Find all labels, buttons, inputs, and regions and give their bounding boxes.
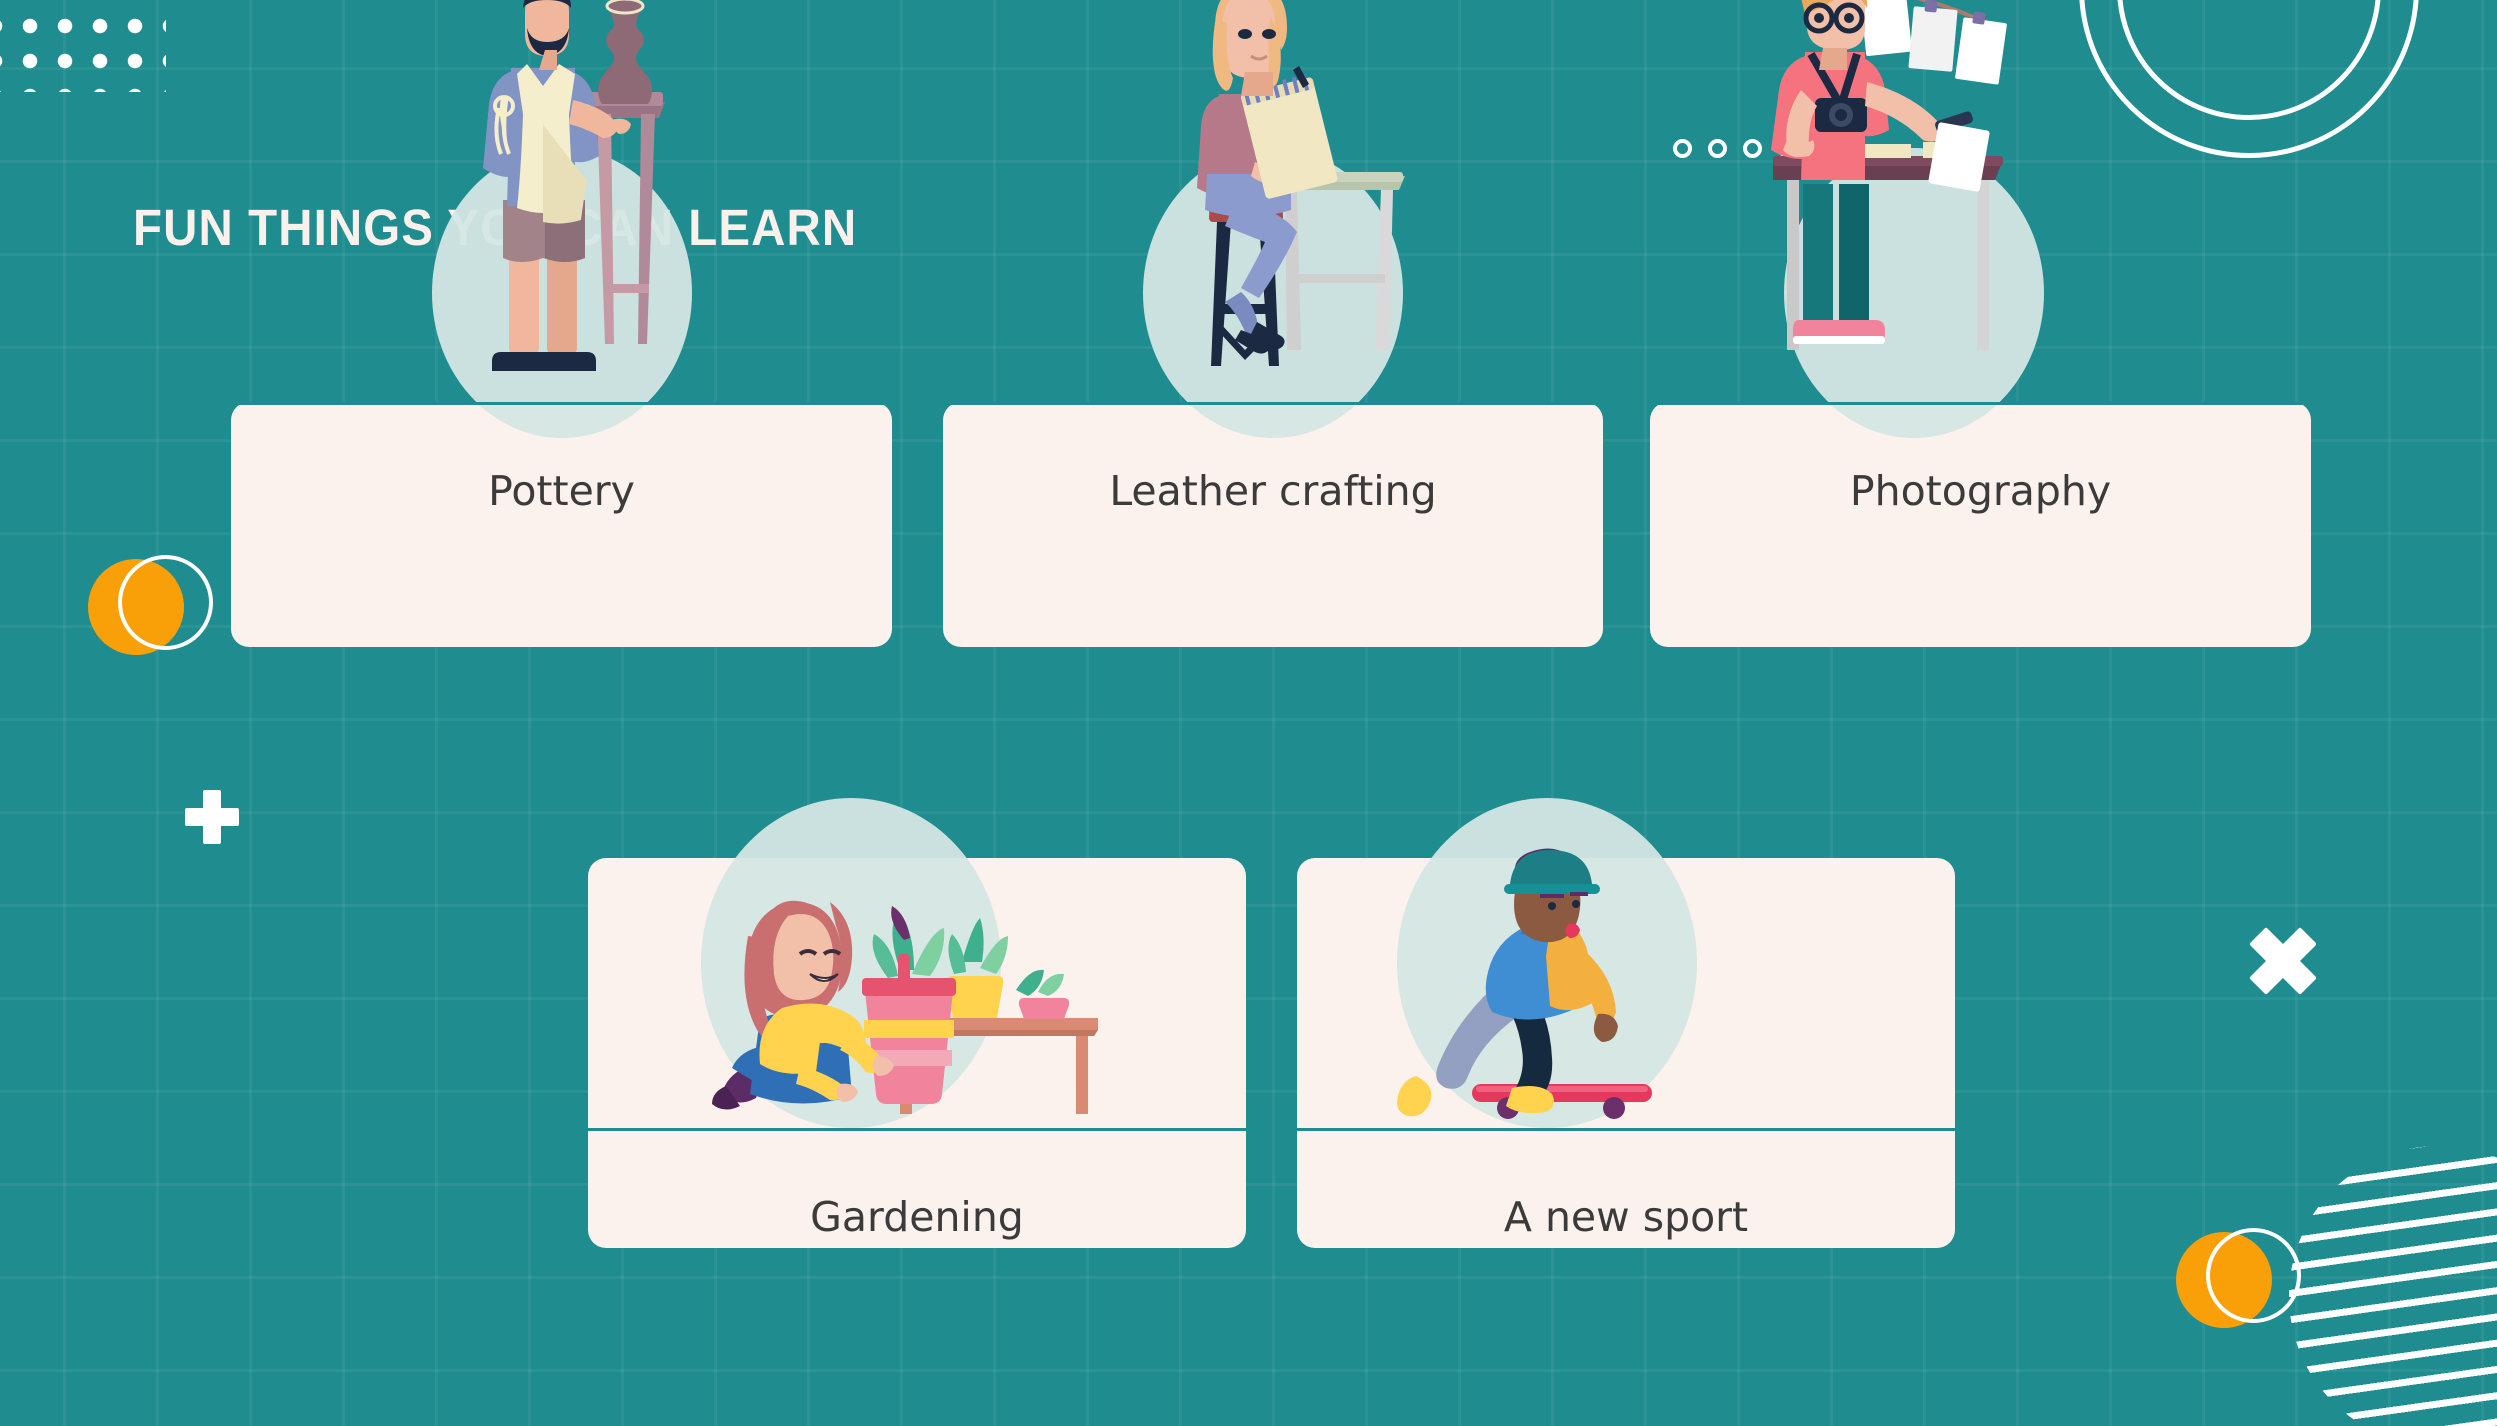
- card-label-gardening: Gardening: [588, 1193, 1246, 1241]
- card-pottery[interactable]: Pottery: [231, 402, 892, 647]
- card-photography[interactable]: Photography: [1650, 402, 2311, 647]
- card-label-pottery: Pottery: [231, 467, 892, 515]
- concentric-rings-decoration: [2079, 0, 2419, 158]
- outline-circle-icon: [2206, 1228, 2301, 1323]
- stripe-pattern: [2289, 1146, 2497, 1426]
- plus-shape-icon: [185, 790, 239, 844]
- card-a-new-sport[interactable]: A new sport: [1297, 858, 1955, 1248]
- striped-disc-decoration: [2289, 1146, 2497, 1426]
- card-label-leather-crafting: Leather crafting: [943, 467, 1603, 515]
- tiny-circle-icon: [1778, 139, 1797, 158]
- outline-circle-icon: [118, 555, 213, 650]
- tiny-circle-icon: [1743, 139, 1762, 158]
- card-divider: [1650, 402, 2311, 405]
- card-divider: [943, 402, 1603, 405]
- card-label-photography: Photography: [1650, 467, 2311, 515]
- tiny-circle-icon: [1673, 139, 1692, 158]
- card-leather-crafting[interactable]: Leather crafting: [943, 402, 1603, 647]
- card-label-a-new-sport: A new sport: [1297, 1193, 1955, 1241]
- orbit-circle-decoration-bottom-right: [2176, 1228, 2301, 1338]
- card-divider: [231, 402, 892, 405]
- tiny-circle-icon: [1708, 139, 1727, 158]
- page-title: FUN THINGS YOU CAN LEARN: [133, 198, 857, 257]
- card-divider: [588, 1128, 1246, 1131]
- dot-grid-decoration: [0, 0, 166, 92]
- woman-potting-plants-icon: [704, 858, 1104, 1128]
- card-divider: [1297, 1128, 1955, 1131]
- skateboarder-icon: [1400, 848, 1720, 1128]
- card-gardening[interactable]: Gardening: [588, 858, 1246, 1248]
- tiny-circles-decoration: [1673, 139, 1797, 158]
- orbit-circle-decoration-left: [88, 555, 213, 665]
